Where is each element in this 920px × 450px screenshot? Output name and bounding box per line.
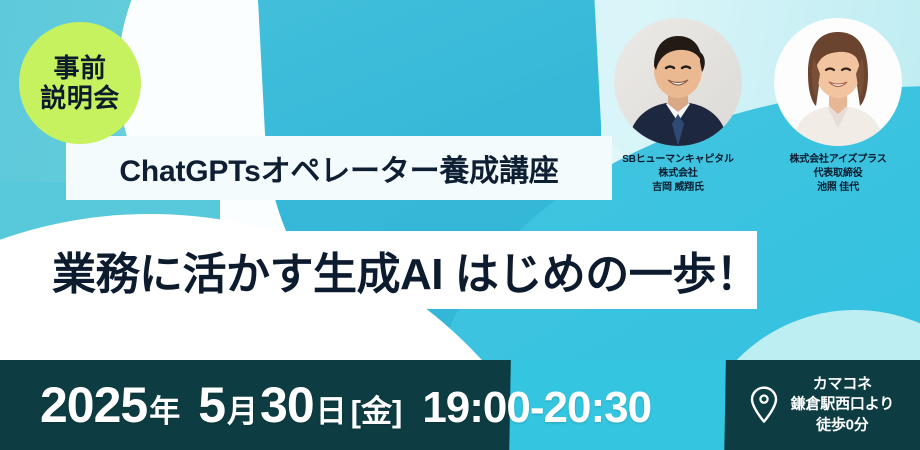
speaker-photo-female [774,18,902,146]
event-month-unit: 月 [227,386,258,431]
event-time: 19:00-20:30 [422,383,651,433]
venue-line-3: 徒歩0分 [791,415,894,435]
badge-line-1: 事前 [53,53,106,83]
event-poster: 事前 説明会 ChatGPTsオペレーター養成講座 業務に活かす生成AI はじめ… [0,0,920,450]
speaker-caption: 株式会社アイズプラス 代表取締役 池照 佳代 [790,153,887,196]
venue-block: カマコネ 鎌倉駅西口より 徒歩0分 [747,375,894,436]
venue-line-2: 鎌倉駅西口より [791,395,894,415]
main-headline-text: 業務に活かす生成AI はじめの一歩！ [30,238,759,302]
event-day: 30 [260,376,314,434]
event-day-unit: 日 [316,386,347,431]
course-title-banner: ChatGPTsオペレーター養成講座 [66,136,612,200]
speaker-org-2: 株式会社 [622,167,734,181]
speaker-org: SBヒューマンキャピタル [622,153,734,167]
speaker-org: 株式会社アイズプラス [790,153,887,167]
footer-bar: 2025 年 5 月 30 日 [金] 19:00-20:30 カマコネ 鎌倉駅… [0,360,920,450]
speaker-photo-male [614,18,742,146]
event-datetime: 2025 年 5 月 30 日 [金] 19:00-20:30 [40,376,651,434]
event-month: 5 [198,376,225,434]
main-headline-banner: 業務に活かす生成AI はじめの一歩！ [30,231,757,309]
speaker-item: 株式会社アイズプラス 代表取締役 池照 佳代 [758,18,918,223]
location-pin-icon [747,385,781,425]
event-year-unit: 年 [149,386,180,431]
speaker-name: 池照 佳代 [790,181,887,195]
venue-text: カマコネ 鎌倉駅西口より 徒歩0分 [791,375,894,436]
course-title-text: ChatGPTsオペレーター養成講座 [119,146,558,190]
badge-line-2: 説明会 [40,83,120,113]
speaker-item: SBヒューマンキャピタル 株式会社 吉岡 威翔氏 [598,18,758,223]
pre-briefing-badge: 事前 説明会 [19,22,141,144]
event-year: 2025 [40,376,147,434]
speaker-caption: SBヒューマンキャピタル 株式会社 吉岡 威翔氏 [622,153,734,196]
speaker-list: SBヒューマンキャピタル 株式会社 吉岡 威翔氏 [598,18,918,223]
event-weekday: [金] [351,386,403,431]
speaker-name: 吉岡 威翔氏 [622,181,734,195]
venue-line-1: カマコネ [791,375,894,395]
speaker-org-2: 代表取締役 [790,167,887,181]
